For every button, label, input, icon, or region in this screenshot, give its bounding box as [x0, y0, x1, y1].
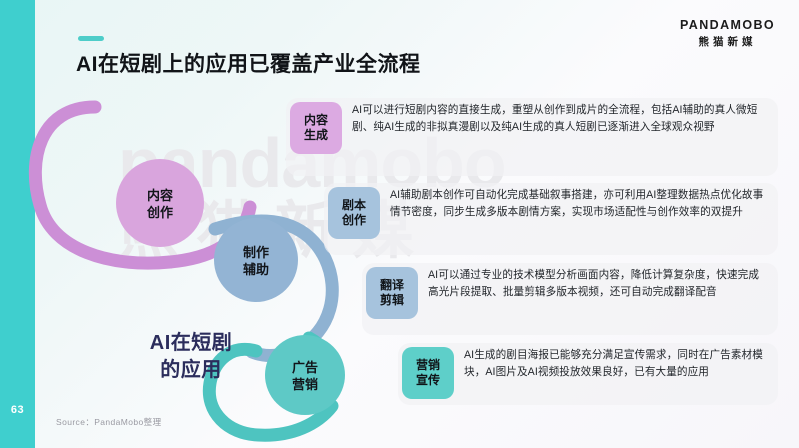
row-chip-4[interactable]: 营销 宣传 — [402, 347, 454, 399]
row-chip-2[interactable]: 剧本 创作 — [328, 187, 380, 239]
node-label-production-support: 制作 辅助 — [216, 245, 296, 278]
content-row-2: 剧本 创作 AI辅助剧本创作可自动化完成基础叙事搭建，亦可利用AI整理数据热点优… — [328, 187, 776, 239]
node-label-content-creation: 内容 创作 — [120, 188, 200, 221]
row-chip-3[interactable]: 翻译 剪辑 — [366, 267, 418, 319]
row-chip-1[interactable]: 内容 生成 — [290, 102, 342, 154]
source-note: Source：PandaMobo整理 — [56, 416, 161, 428]
content-row-3: 翻译 剪辑 AI可以通过专业的技术模型分析画面内容，降低计算复杂度，快速完成高光… — [366, 267, 776, 319]
content-row-1: 内容 生成 AI可以进行短剧内容的直接生成，重塑从创作到成片的全流程，包括AI辅… — [290, 102, 775, 154]
slide-root: 63 AI在短剧上的应用已覆盖产业全流程 PANDAMOBO 熊猫新媒 pand… — [0, 0, 799, 448]
row-text-4: AI生成的剧目海报已能够充分满足宣传需求，同时在广告素材模块，AI图片及AI视频… — [464, 347, 768, 380]
content-row-4: 营销 宣传 AI生成的剧目海报已能够充分满足宣传需求，同时在广告素材模块，AI图… — [402, 347, 776, 399]
row-text-3: AI可以通过专业的技术模型分析画面内容，降低计算复杂度，快速完成高光片段提取、批… — [428, 267, 768, 300]
diagram-heading: AI在短剧 的应用 — [96, 330, 286, 384]
row-text-2: AI辅助剧本创作可自动化完成基础叙事搭建，亦可利用AI整理数据热点优化故事情节密… — [390, 187, 766, 220]
row-text-1: AI可以进行短剧内容的直接生成，重塑从创作到成片的全流程，包括AI辅助的真人微短… — [352, 102, 764, 135]
